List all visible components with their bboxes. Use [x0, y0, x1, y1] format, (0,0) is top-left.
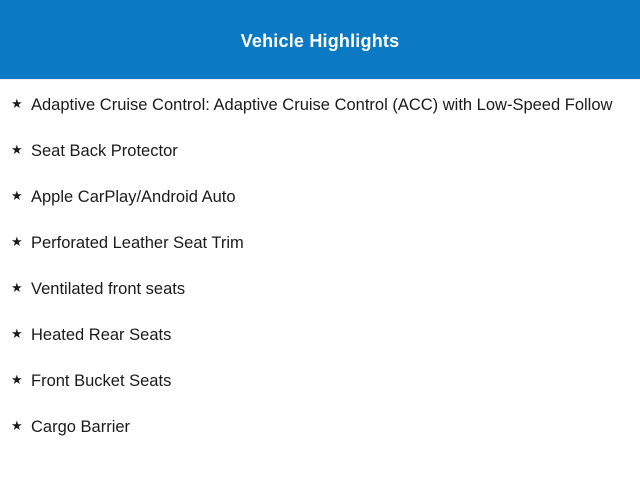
list-item-label: Seat Back Protector — [31, 140, 614, 162]
star-icon: ★ — [10, 94, 31, 116]
panel-header: Vehicle Highlights — [0, 0, 640, 79]
list-item-label: Heated Rear Seats — [31, 324, 614, 346]
list-item: ★ Adaptive Cruise Control: Adaptive Crui… — [0, 94, 640, 116]
list-item-label: Front Bucket Seats — [31, 370, 614, 392]
list-item-label: Adaptive Cruise Control: Adaptive Cruise… — [31, 94, 614, 116]
star-icon: ★ — [10, 278, 31, 300]
list-item-label: Perforated Leather Seat Trim — [31, 232, 614, 254]
star-icon: ★ — [10, 416, 31, 438]
list-item: ★ Cargo Barrier — [0, 416, 640, 438]
list-item: ★ Front Bucket Seats — [0, 370, 640, 392]
star-icon: ★ — [10, 140, 31, 162]
list-item-label: Ventilated front seats — [31, 278, 614, 300]
list-item-label: Apple CarPlay/Android Auto — [31, 186, 614, 208]
list-item: ★ Heated Rear Seats — [0, 324, 640, 346]
vehicle-highlights-panel: Vehicle Highlights ★ Adaptive Cruise Con… — [0, 0, 640, 480]
list-item: ★ Apple CarPlay/Android Auto — [0, 186, 640, 208]
page-title: Vehicle Highlights — [241, 32, 400, 52]
list-item: ★ Ventilated front seats — [0, 278, 640, 300]
list-item: ★ Perforated Leather Seat Trim — [0, 232, 640, 254]
highlights-list: ★ Adaptive Cruise Control: Adaptive Crui… — [0, 80, 640, 480]
star-icon: ★ — [10, 324, 31, 346]
list-item: ★ Seat Back Protector — [0, 140, 640, 162]
star-icon: ★ — [10, 186, 31, 208]
star-icon: ★ — [10, 232, 31, 254]
list-item-label: Cargo Barrier — [31, 416, 614, 438]
star-icon: ★ — [10, 370, 31, 392]
